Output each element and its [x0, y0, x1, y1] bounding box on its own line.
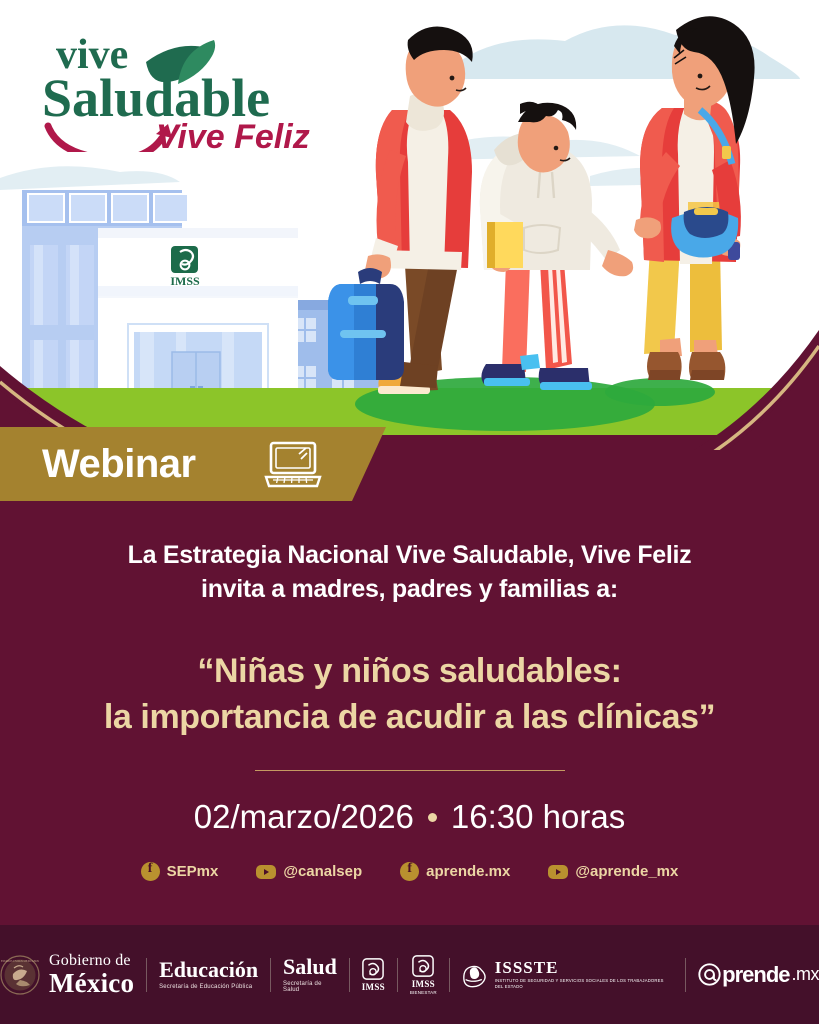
salud-logo: Salud Secretaría de Salud — [283, 956, 337, 993]
imss-bienestar-logo: IMSS BIENESTAR — [410, 955, 437, 995]
at-symbol-icon — [698, 963, 721, 986]
divider-rule — [255, 770, 565, 771]
social-link-aprendemx[interactable]: aprende.mx — [400, 862, 510, 881]
imss-bienestar-icon — [412, 955, 434, 977]
curved-divider — [0, 270, 819, 450]
webinar-topic: “Niñas y niños saludables: la importanci… — [0, 648, 819, 740]
invite-line-1: La Estrategia Nacional Vive Saludable, V… — [0, 538, 819, 572]
poster-root: IMSS — [0, 0, 819, 1024]
imss-icon — [362, 958, 384, 980]
topic-line-1: “Niñas y niños saludables: — [0, 648, 819, 694]
educacion-logo: Educación Secretaría de Educación Públic… — [159, 959, 258, 990]
issste-title: ISSSTE — [495, 959, 673, 976]
event-time: 16:30 horas — [451, 798, 625, 836]
aprende-word: prende — [722, 962, 789, 988]
issste-logo: ISSSTE INSTITUTO DE SEGURIDAD Y SERVICIO… — [462, 959, 674, 989]
social-handle: aprende.mx — [426, 863, 510, 880]
webinar-banner: Webinar — [0, 427, 420, 501]
educacion-title: Educación — [159, 959, 258, 981]
issste-icon — [462, 962, 489, 988]
facebook-icon — [141, 862, 160, 881]
footer-divider — [349, 958, 350, 992]
social-handle: @aprende_mx — [575, 863, 678, 880]
invitation-text: La Estrategia Nacional Vive Saludable, V… — [0, 500, 819, 606]
social-link-sepmx[interactable]: SEPmx — [141, 862, 219, 881]
salud-title: Salud — [283, 956, 337, 978]
webinar-label: Webinar — [42, 439, 196, 489]
salud-subtitle: Secretaría de Salud — [283, 981, 337, 993]
social-links-row: SEPmx @canalsep aprende.mx @aprende_mx — [0, 862, 819, 881]
mexico-eagle-emblem-icon: ESTADOS UNIDOS MEXICANOS — [0, 955, 40, 995]
imss-bienestar-name: IMSS — [412, 979, 435, 989]
event-date: 02/marzo/2026 — [194, 798, 414, 836]
gobierno-line-1: Gobierno de — [49, 953, 134, 969]
svg-text:ESTADOS UNIDOS MEXICANOS: ESTADOS UNIDOS MEXICANOS — [1, 960, 40, 963]
vive-saludable-logo: vive Saludable Vive Feliz — [28, 24, 328, 152]
aprende-domain: .mx — [792, 964, 819, 985]
footer-divider — [397, 958, 398, 992]
event-datetime: 02/marzo/2026 16:30 horas — [0, 798, 819, 836]
topic-line-2: la importancia de acudir a las clínicas” — [0, 694, 819, 740]
footer-divider — [270, 958, 271, 992]
main-content: La Estrategia Nacional Vive Saludable, V… — [0, 500, 819, 836]
social-link-aprende-mx-yt[interactable]: @aprende_mx — [548, 863, 678, 880]
issste-subtitle: INSTITUTO DE SEGURIDAD Y SERVICIOS SOCIA… — [495, 978, 673, 989]
imss-name: IMSS — [362, 982, 385, 992]
imss-bienestar-subtitle: BIENESTAR — [410, 990, 437, 995]
logo-line-vive-feliz: Vive Feliz — [156, 118, 310, 152]
gobierno-line-2: México — [49, 970, 134, 997]
facebook-icon — [400, 862, 419, 881]
social-link-canalsep[interactable]: @canalsep — [256, 863, 362, 880]
invite-line-2: invita a madres, padres y familias a: — [0, 572, 819, 606]
social-handle: SEPmx — [167, 863, 219, 880]
youtube-icon — [548, 865, 568, 879]
gobierno-de-mexico-logo: ESTADOS UNIDOS MEXICANOS Gobierno de Méx… — [0, 953, 134, 997]
youtube-icon — [256, 865, 276, 879]
educacion-subtitle: Secretaría de Educación Pública — [159, 984, 258, 990]
imss-logo: IMSS — [362, 958, 385, 992]
footer-logo-bar: ESTADOS UNIDOS MEXICANOS Gobierno de Méx… — [0, 925, 819, 1024]
footer-divider — [685, 958, 686, 992]
footer-divider — [146, 958, 147, 992]
bullet-separator-icon — [428, 813, 437, 822]
aprende-mx-logo: prende .mx — [698, 962, 819, 988]
social-handle: @canalsep — [283, 863, 362, 880]
footer-divider — [449, 958, 450, 992]
